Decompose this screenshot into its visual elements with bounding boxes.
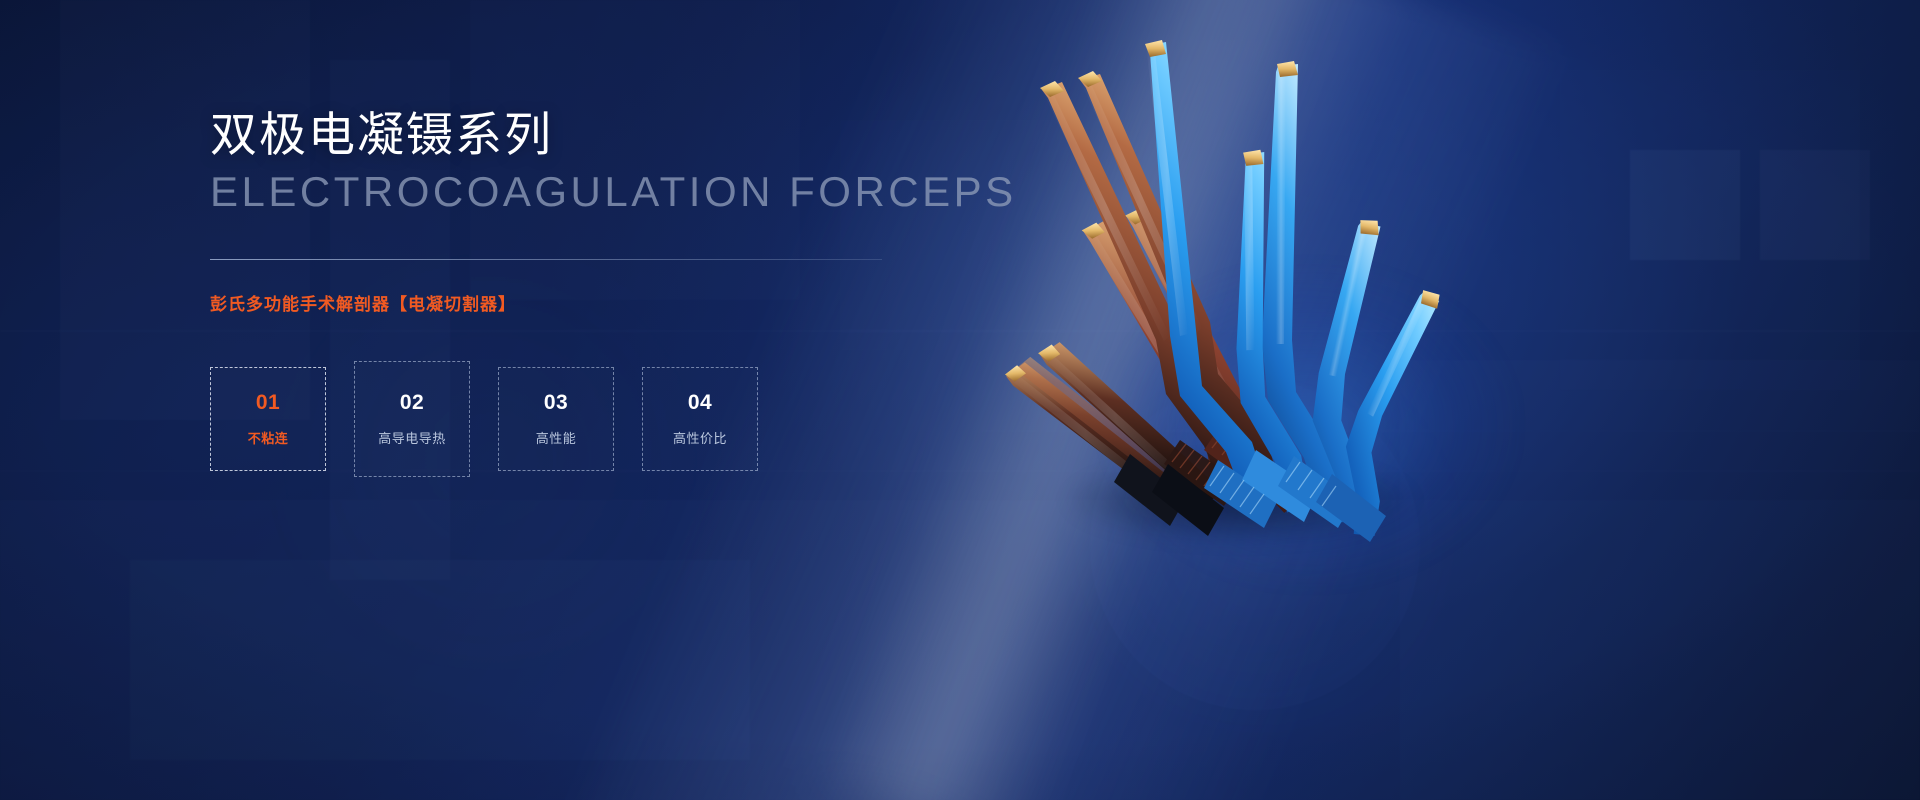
- page-title: 双极电凝镊系列: [210, 108, 910, 162]
- forceps-blue-group: [1114, 40, 1467, 542]
- feature-item-03[interactable]: 03 高性能: [498, 367, 614, 471]
- hero-text-block: 双极电凝镊系列 ELECTROCOAGULATION FORCEPS 彭氏多功能…: [210, 108, 910, 477]
- feature-number: 02: [400, 391, 424, 415]
- product-image: [880, 30, 1440, 570]
- feature-label: 高性能: [536, 428, 577, 447]
- feature-label: 高导电导热: [378, 428, 446, 447]
- feature-item-04[interactable]: 04 高性价比: [642, 367, 758, 471]
- feature-item-02[interactable]: 02 高导电导热: [354, 361, 470, 477]
- feature-number: 04: [688, 391, 712, 415]
- feature-item-01[interactable]: 01 不粘连: [210, 367, 326, 471]
- page-subtitle-en: ELECTROCOAGULATION FORCEPS: [210, 168, 910, 215]
- product-tagline: 彭氏多功能手术解剖器【电凝切割器】: [210, 290, 910, 315]
- feature-list: 01 不粘连 02 高导电导热 03 高性能 04 高性价比: [210, 367, 910, 477]
- feature-label: 不粘连: [248, 428, 289, 447]
- feature-number: 01: [256, 391, 280, 415]
- product-hero-banner: 双极电凝镊系列 ELECTROCOAGULATION FORCEPS 彭氏多功能…: [0, 0, 1920, 800]
- divider: [210, 259, 882, 260]
- feature-label: 高性价比: [673, 428, 727, 447]
- feature-number: 03: [544, 391, 568, 415]
